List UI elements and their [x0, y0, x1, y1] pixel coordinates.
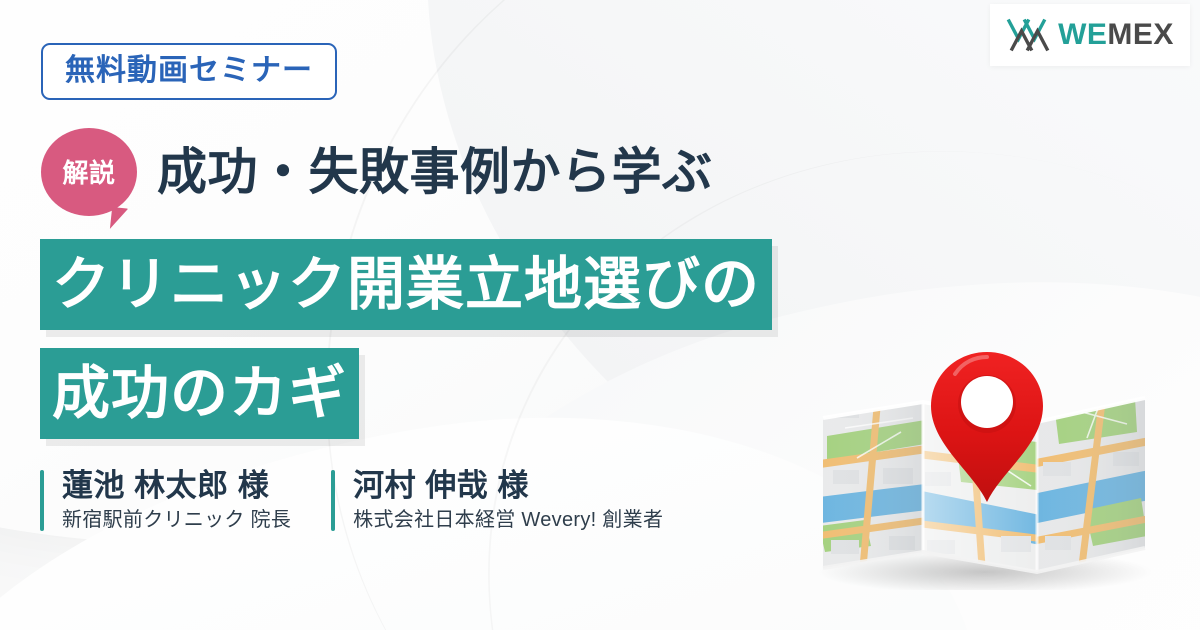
- speaker-title: 株式会社日本経営 Wevery! 創業者: [353, 509, 663, 531]
- map-illustration: [805, 340, 1195, 590]
- bubble-tail: [110, 207, 132, 231]
- folded-map-icon: [805, 340, 1195, 590]
- title-band-line-2: 成功のカギ: [40, 348, 359, 439]
- speaker-title: 新宿駅前クリニック 院長: [62, 509, 291, 531]
- wemex-logo: WEMEX: [990, 4, 1190, 66]
- speaker-item: 河村 伸哉 様 株式会社日本経営 Wevery! 創業者: [331, 470, 703, 531]
- wordmark-mex: MEX: [1107, 18, 1174, 51]
- title-band-line-1: クリニック開業立地選びの: [40, 239, 772, 330]
- speaker-name: 河村 伸哉 様: [353, 470, 663, 503]
- speaker-name: 蓮池 林太郎 様: [62, 470, 291, 503]
- explanation-bubble: 解説: [41, 128, 137, 216]
- wordmark-we: WE: [1058, 18, 1107, 51]
- speaker-item: 蓮池 林太郎 様 新宿駅前クリニック 院長: [40, 470, 331, 531]
- speaker-body: 蓮池 林太郎 様 新宿駅前クリニック 院長: [44, 470, 331, 531]
- speakers-list: 蓮池 林太郎 様 新宿駅前クリニック 院長 河村 伸哉 様 株式会社日本経営 W…: [40, 470, 703, 531]
- seminar-type-badge: 無料動画セミナー: [41, 43, 337, 100]
- wemex-x-mark-icon: [1006, 17, 1050, 53]
- seminar-banner: WEMEX 無料動画セミナー 解説 成功・失敗事例から学ぶ クリニック開業立地選…: [0, 0, 1200, 630]
- kicker-row: 解説 成功・失敗事例から学ぶ: [41, 128, 713, 216]
- kicker-headline: 成功・失敗事例から学ぶ: [157, 147, 713, 197]
- explanation-bubble-label: 解説: [62, 160, 115, 186]
- wemex-wordmark: WEMEX: [1058, 20, 1174, 50]
- speaker-body: 河村 伸哉 様 株式会社日本経営 Wevery! 創業者: [335, 470, 703, 531]
